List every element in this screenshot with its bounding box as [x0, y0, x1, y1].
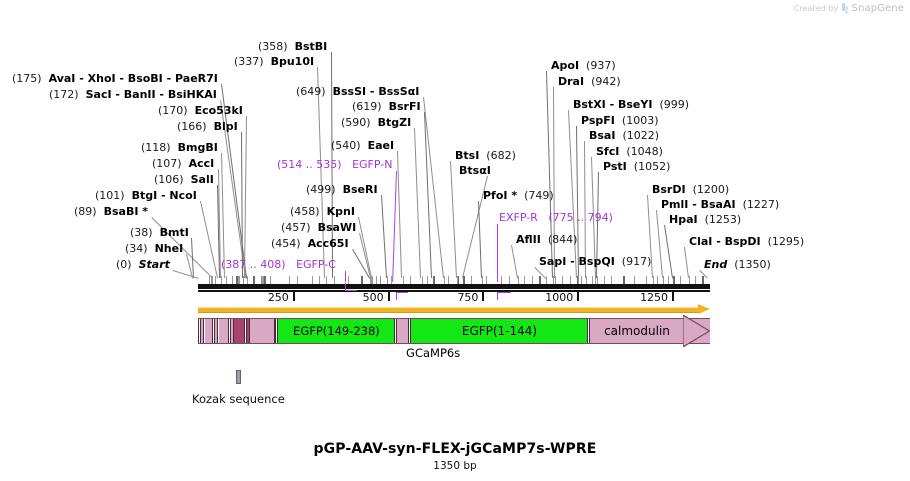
restriction-site-tick: [371, 276, 372, 284]
enzyme-name: Start: [139, 258, 170, 271]
restriction-site-tick: [592, 276, 593, 284]
restriction-site-tick: [226, 276, 227, 284]
primer-leader-line: [497, 224, 498, 282]
enzyme-position: (454): [271, 237, 301, 250]
restriction-site-tick: [555, 276, 556, 284]
restriction-site-tick: [680, 276, 681, 284]
restriction-site-tick: [312, 276, 313, 284]
feature-arrow-head: [683, 315, 710, 347]
restriction-site-tick: [509, 276, 510, 284]
ruler-bar-top: [198, 284, 710, 289]
enzyme-name: AflII: [516, 233, 541, 246]
primer-name: EXFP-R: [499, 211, 538, 224]
enzyme-label-hpai[interactable]: HpaI (1253): [669, 214, 741, 225]
enzyme-name: BssSI - BssSαI: [333, 85, 420, 98]
enzyme-name: BtsI: [455, 149, 479, 162]
restriction-site-tick: [410, 276, 411, 284]
restriction-site-tick: [326, 276, 327, 284]
primer-range: (775 .. 794): [548, 211, 613, 224]
restriction-site-tick: [457, 276, 458, 284]
enzyme-label-btgi[interactable]: (101) BtgI - NcoI: [95, 190, 197, 201]
enzyme-name: ClaI - BspDI: [689, 235, 761, 248]
leader-line: [241, 132, 243, 278]
enzyme-name: SacI - BanII - BsiHKAI: [86, 88, 217, 101]
feature-hatch-block: [275, 318, 278, 344]
restriction-site-tick: [668, 276, 669, 284]
enzyme-position: (170): [158, 104, 188, 117]
enzyme-position: (1295): [768, 235, 805, 248]
restriction-site-tick: [570, 276, 571, 284]
restriction-site-tick: [261, 276, 262, 284]
primer-bracket-egfpc: [345, 283, 357, 291]
feature-pink-block: [250, 318, 274, 344]
restriction-site-tick: [581, 276, 582, 284]
enzyme-position: (942): [591, 75, 621, 88]
enzyme-position: (166): [177, 120, 207, 133]
restriction-site-tick: [238, 276, 239, 284]
enzyme-label-pspfi[interactable]: PspFI (1003): [581, 115, 658, 126]
leader-line: [414, 128, 421, 278]
primer-label-exfpr[interactable]: EXFP-R (775 .. 794): [499, 212, 613, 223]
ruler-tick-mark: [293, 291, 295, 301]
enzyme-name: SfcI: [596, 145, 619, 158]
ruler-tick-label: 1250: [640, 291, 668, 304]
restriction-site-tick: [663, 276, 664, 284]
enzyme-label-start[interactable]: (0) Start: [116, 259, 170, 270]
restriction-site-tick: [247, 276, 248, 284]
restriction-site-tick: [689, 276, 690, 284]
restriction-site-tick: [623, 276, 625, 284]
ruler-tick-mark: [482, 291, 484, 301]
snapgene-linear-map: Created by SnapGene (175) AvaI - XhoI - …: [0, 0, 910, 481]
enzyme-position: (844): [548, 233, 578, 246]
restriction-site-tick: [448, 276, 449, 284]
enzyme-name: PmlI - BsaAI: [661, 198, 736, 211]
enzyme-label-blpi[interactable]: (166) BlpI: [177, 121, 238, 132]
ruler-tick-label: 500: [356, 291, 384, 304]
enzyme-name: BsaWI: [318, 221, 357, 234]
restriction-site-tick: [262, 276, 263, 284]
restriction-site-tick: [297, 276, 298, 284]
ruler-tick-mark: [672, 291, 674, 301]
enzyme-position: (107): [152, 157, 182, 170]
restriction-site-tick: [236, 276, 238, 284]
enzyme-position: (619): [352, 100, 382, 113]
enzyme-name: NheI: [155, 242, 184, 255]
primer-leader-line: [392, 171, 397, 282]
enzyme-position: (1052): [634, 160, 671, 173]
enzyme-name: PfoI *: [483, 189, 517, 202]
enzyme-position: (1022): [622, 129, 659, 142]
restriction-site-tick: [334, 276, 335, 284]
enzyme-label-btsi[interactable]: BtsI (682): [455, 150, 516, 161]
enzyme-position: (1048): [626, 145, 663, 158]
enzyme-label-acci[interactable]: (107) AccI: [152, 158, 214, 169]
ruler-tick-mark: [577, 291, 579, 301]
primer-bracket-exfpr: [497, 292, 511, 300]
enzyme-position: (540): [331, 139, 361, 152]
ruler-tick-label: 750: [450, 291, 478, 304]
enzyme-label-bstbi[interactable]: (358) BstBI: [258, 41, 327, 52]
enzyme-name: BmtI: [160, 226, 189, 239]
enzyme-label-saci[interactable]: (172) SacI - BanII - BsiHKAI: [49, 89, 217, 100]
enzyme-position: (1350): [734, 258, 771, 271]
restriction-site-tick: [211, 276, 212, 284]
snapgene-watermark: Created by SnapGene: [794, 3, 904, 14]
leader-line: [200, 201, 218, 278]
restriction-site-tick: [422, 276, 423, 284]
restriction-site-tick: [444, 276, 445, 284]
restriction-site-tick: [232, 276, 233, 284]
restriction-site-tick: [586, 276, 587, 284]
enzyme-label-bmgbi[interactable]: (118) BmgBI: [141, 142, 218, 153]
enzyme-label-bstxi[interactable]: BstXI - BseYI (999): [573, 99, 689, 110]
enzyme-name: BsaI: [589, 129, 615, 142]
page-subtitle: 1350 bp: [0, 460, 910, 472]
restriction-site-tick: [471, 276, 472, 284]
restriction-site-tick: [646, 276, 647, 284]
restriction-site-tick: [518, 276, 519, 284]
leader-line: [244, 116, 247, 278]
feature-label: EGFP(1-144): [410, 318, 588, 344]
restriction-site-tick: [578, 276, 579, 284]
leader-line: [553, 87, 555, 278]
enzyme-position: (89): [74, 205, 97, 218]
enzyme-label-sali[interactable]: (106) SalI: [154, 174, 214, 185]
leader-line: [397, 151, 402, 278]
enzyme-label-bsrdi[interactable]: BsrDI (1200): [652, 184, 729, 195]
restriction-site-tick: [546, 276, 547, 284]
restriction-site-tick: [486, 276, 487, 284]
kozak-sequence-label: Kozak sequence: [192, 392, 285, 406]
leader-line: [664, 225, 673, 278]
enzyme-name: ApoI: [551, 59, 579, 72]
enzyme-label-bsai[interactable]: BsaI (1022): [589, 130, 659, 141]
enzyme-name: SalI: [191, 173, 214, 186]
primer-range: (514 .. 535): [277, 158, 342, 171]
restriction-site-tick: [289, 276, 290, 284]
watermark-created-by-label: Created by: [794, 4, 839, 13]
feature-arrow[interactable]: EGFP(149-238)EGFP(1-144)calmodulin: [198, 318, 710, 344]
enzyme-name: Eco53kI: [195, 104, 243, 117]
feature-hatch-block: [394, 318, 397, 344]
restriction-site-tick: [611, 276, 612, 284]
leader-line: [173, 270, 199, 279]
primer-bracket-egfpn: [396, 292, 408, 300]
enzyme-label-eco53ki[interactable]: (170) Eco53kI: [158, 105, 243, 116]
restriction-site-tick: [387, 276, 388, 284]
enzyme-label-drai[interactable]: DraI (942): [558, 76, 621, 87]
enzyme-name: BmgBI: [178, 141, 218, 154]
restriction-site-tick: [539, 276, 541, 284]
enzyme-name: BstBI: [295, 40, 328, 53]
feature-hatch-block: [228, 318, 235, 344]
enzyme-position: (358): [258, 40, 288, 53]
enzyme-label-pmli[interactable]: PmlI - BsaAI (1227): [661, 199, 779, 210]
enzyme-label-eaei[interactable]: (540) EaeI: [331, 140, 394, 151]
restriction-site-tick: [403, 276, 404, 284]
restriction-site-tick: [243, 276, 244, 284]
enzyme-label-end[interactable]: End (1350): [704, 259, 771, 270]
enzyme-position: (101): [95, 189, 125, 202]
enzyme-name: AccI: [189, 157, 215, 170]
enzyme-name: SapI - BspQI: [539, 255, 615, 268]
feature-hatch-block: [212, 318, 219, 344]
enzyme-name: Acc65I: [308, 237, 349, 250]
restriction-site-tick: [653, 276, 654, 284]
leader-line: [423, 97, 444, 278]
enzyme-name: End: [704, 258, 727, 271]
orf-arrow: [198, 304, 710, 314]
restriction-site-tick: [634, 276, 635, 284]
enzyme-position: (337): [234, 55, 264, 68]
kozak-marker[interactable]: [236, 370, 241, 384]
restriction-site-tick: [524, 276, 525, 284]
enzyme-position: (38): [130, 226, 153, 239]
restriction-site-tick: [253, 276, 255, 284]
enzyme-position: (749): [524, 189, 554, 202]
enzyme-label-bsawi[interactable]: (457) BsaWI: [281, 222, 356, 233]
enzyme-position: (649): [296, 85, 326, 98]
restriction-site-tick: [319, 276, 320, 284]
enzyme-name: EaeI: [368, 139, 395, 152]
enzyme-label-sapi[interactable]: SapI - BspQI (917): [539, 256, 651, 267]
feature-hatch-block: [408, 318, 411, 344]
leader-line: [546, 71, 553, 278]
restriction-site-tick: [391, 276, 392, 284]
enzyme-label-nhei[interactable]: (34) NheI: [125, 243, 183, 254]
feature-hatch-block: [244, 318, 251, 344]
enzyme-label-bsssi[interactable]: (649) BssSI - BssSαI: [296, 86, 419, 97]
enzyme-position: (172): [49, 88, 79, 101]
enzyme-position: (937): [586, 59, 616, 72]
restriction-site-tick: [463, 276, 465, 284]
enzyme-name: DraI: [558, 75, 584, 88]
ruler-tick-label: 1000: [545, 291, 573, 304]
enzyme-position: (118): [141, 141, 171, 154]
snapgene-logo-icon: [842, 3, 849, 14]
enzyme-name: BstXI - BseYI: [573, 98, 652, 111]
restriction-site-tick: [553, 276, 554, 284]
feature-label: calmodulin: [591, 318, 684, 344]
watermark-brand-label: SnapGene: [852, 3, 904, 14]
primer-name: EGFP-N: [352, 158, 392, 171]
enzyme-name: HpaI: [669, 213, 698, 226]
enzyme-position: (1200): [693, 183, 730, 196]
leader-line: [656, 210, 663, 278]
restriction-site-tick: [370, 276, 371, 284]
restriction-site-tick: [361, 276, 363, 284]
restriction-site-tick: [264, 276, 266, 284]
feature-pink-block: [205, 318, 213, 344]
enzyme-label-btsai[interactable]: BtsαI: [452, 165, 491, 176]
enzyme-position: (917): [622, 255, 652, 268]
feature-darkpink-block: [234, 318, 243, 344]
primer-label-egfpn[interactable]: (514 .. 535) EGFP-N: [277, 159, 392, 170]
primer-range: (387 .. 408): [221, 258, 286, 271]
restriction-site-tick: [270, 276, 271, 284]
enzyme-name: BtsαI: [459, 164, 491, 177]
orf-arrow-shaft: [198, 307, 698, 313]
restriction-site-tick: [532, 276, 533, 284]
enzyme-name: BseRI: [343, 183, 378, 196]
enzyme-label-acc65i[interactable]: (454) Acc65I: [271, 238, 349, 249]
enzyme-position: (499): [306, 183, 336, 196]
enzyme-position: (34): [125, 242, 148, 255]
enzyme-label-kpni[interactable]: (458) KpnI: [290, 206, 355, 217]
enzyme-name: BsrDI: [652, 183, 686, 196]
ruler-tick-label: 250: [261, 291, 289, 304]
restriction-site-tick: [702, 276, 704, 284]
enzyme-position: (590): [341, 116, 371, 129]
sequence-ruler: [198, 281, 710, 290]
restriction-site-tick: [433, 276, 435, 284]
enzyme-label-bsabi[interactable]: (89) BsaBI *: [74, 206, 148, 217]
enzyme-position: (682): [486, 149, 516, 162]
ruler-tick-mark: [388, 291, 390, 301]
leader-line: [478, 201, 482, 278]
restriction-site-tick: [376, 276, 377, 284]
enzyme-label-aflii[interactable]: AflII (844): [516, 234, 577, 245]
restriction-site-tick: [604, 276, 605, 284]
restriction-site-tick: [215, 276, 216, 284]
restriction-site-tick: [673, 276, 675, 284]
enzyme-name: BtgI - NcoI: [132, 189, 197, 202]
enzyme-label-pfoi[interactable]: PfoI * (749): [483, 190, 554, 201]
enzyme-label-bsrfi[interactable]: (619) BsrFI: [352, 101, 421, 112]
enzyme-position: (175): [12, 72, 42, 85]
primer-label-egfpc[interactable]: (387 .. 408) EGFP-C: [221, 259, 336, 270]
feature-group-label: GCaMP6s: [278, 346, 589, 360]
restriction-site-tick: [695, 276, 696, 284]
enzyme-name: Bpu10I: [271, 55, 315, 68]
restriction-site-tick: [657, 276, 658, 284]
feature-hatch-block: [198, 318, 205, 344]
enzyme-name: BtgZI: [378, 116, 412, 129]
enzyme-position: (999): [659, 98, 689, 111]
restriction-site-tick: [209, 276, 210, 284]
enzyme-name: KpnI: [327, 205, 355, 218]
enzyme-label-clai[interactable]: ClaI - BspDI (1295): [689, 236, 804, 247]
leader-line: [684, 247, 689, 278]
enzyme-name: PstI: [603, 160, 627, 173]
enzyme-position: (1003): [622, 114, 659, 127]
primer-name: EGFP-C: [296, 258, 336, 271]
restriction-site-tick: [221, 276, 222, 284]
restriction-site-tick: [380, 276, 381, 284]
feature-pink-block: [219, 318, 227, 344]
restriction-site-tick: [501, 276, 502, 284]
enzyme-label-bseri[interactable]: (499) BseRI: [306, 184, 378, 195]
enzyme-name: PspFI: [581, 114, 615, 127]
enzyme-name: BsaBI *: [104, 205, 148, 218]
leader-line: [511, 245, 518, 278]
leader-line: [381, 195, 387, 278]
enzyme-label-bpu10i[interactable]: (337) Bpu10I: [234, 56, 314, 67]
restriction-site-tick: [482, 276, 483, 284]
enzyme-position: (457): [281, 221, 311, 234]
feature-label: EGFP(149-238): [278, 318, 396, 344]
enzyme-position: (1253): [705, 213, 742, 226]
enzyme-label-psti[interactable]: PstI (1052): [603, 161, 670, 172]
restriction-site-tick: [562, 276, 563, 284]
enzyme-label-apoi[interactable]: ApoI (937): [551, 60, 616, 71]
enzyme-label-btgzi[interactable]: (590) BtgZI: [341, 117, 411, 128]
restriction-site-tick: [212, 276, 213, 284]
enzyme-position: (1227): [743, 198, 780, 211]
enzyme-name: AvaI - XhoI - BsoBI - PaeR7I: [49, 72, 218, 85]
enzyme-name: BlpI: [214, 120, 238, 133]
orf-arrow-head: [698, 304, 710, 314]
page-title: pGP-AAV-syn-FLEX-jGCaMP7s-WPRE: [0, 441, 910, 457]
restriction-site-tick: [597, 276, 598, 284]
enzyme-name: BsrFI: [389, 100, 421, 113]
leader-line: [450, 161, 457, 278]
restriction-site-tick: [427, 276, 428, 284]
enzyme-label-bmti[interactable]: (38) BmtI: [130, 227, 189, 238]
enzyme-label-avai[interactable]: (175) AvaI - XhoI - BsoBI - PaeR7I: [12, 73, 218, 84]
enzyme-label-sfci[interactable]: SfcI (1048): [596, 146, 663, 157]
enzyme-position: (106): [154, 173, 184, 186]
enzyme-position: (0): [116, 258, 132, 271]
enzyme-position: (458): [290, 205, 320, 218]
